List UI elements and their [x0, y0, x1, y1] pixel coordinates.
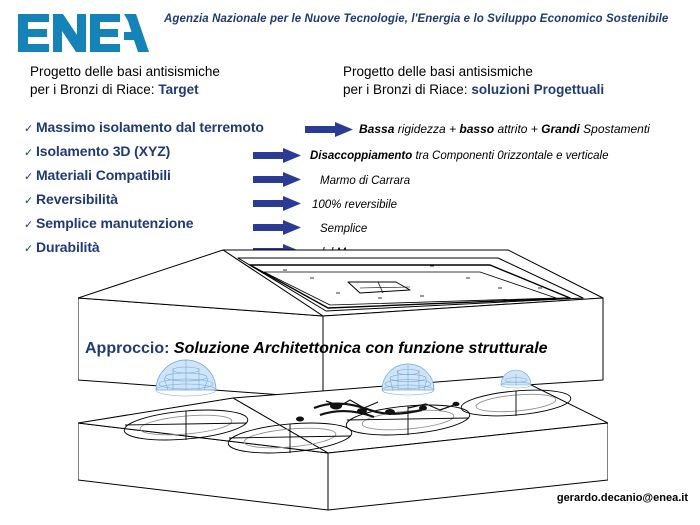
checkmark-icon: ✓ — [24, 244, 36, 255]
solution-1-bold2: basso — [459, 122, 494, 136]
arrow-right-icon-5 — [253, 220, 301, 235]
solution-1-plain3: Spostamenti — [580, 122, 650, 136]
project-heading-right-accent: soluzioni Progettuali — [471, 82, 604, 97]
project-heading-right-line1: Progetto delle basi antisismiche — [343, 63, 604, 81]
solution-1-bold3: Grandi — [541, 122, 580, 136]
approccio-caption: Approccio: Soluzione Architettonica con … — [85, 340, 548, 358]
solution-text-3: Marmo di Carrara — [320, 175, 410, 187]
solution-1-plain2: attrito + — [494, 122, 541, 136]
project-heading-left: Progetto delle basi antisismiche per i B… — [30, 63, 220, 99]
approccio-lead: Approccio: — [85, 340, 169, 357]
solution-3-plain1: Marmo di Carrara — [320, 175, 410, 187]
project-heading-right-line2: per i Bronzi di Riace: soluzioni Progett… — [343, 81, 604, 99]
requirement-label: Reversibilità — [36, 191, 118, 207]
project-heading-left-line2: per i Bronzi di Riace: Target — [30, 81, 220, 99]
solution-2-plain1: tra Componenti 0rizzontale e verticale — [412, 150, 608, 162]
arrow-right-icon-3 — [253, 172, 301, 187]
approccio-rest: Soluzione Architettonica con funzione st… — [169, 340, 547, 357]
solution-text-5: Semplice — [320, 223, 367, 235]
requirement-label: Semplice manutenzione — [36, 215, 193, 231]
solution-1-bold1: Bassa — [359, 122, 394, 136]
requirement-label: Materiali Compatibili — [36, 167, 171, 183]
slide-canvas: Agenzia Nazionale per le Nuove Tecnologi… — [0, 0, 700, 525]
requirement-label: Massimo isolamento dal terremoto — [36, 119, 264, 135]
checkmark-icon: ✓ — [24, 148, 36, 159]
requirement-item: ✓ Massimo isolamento dal terremoto — [24, 119, 294, 143]
solution-5-plain1: Semplice — [320, 223, 367, 235]
solution-2-bold1: Disaccoppiamento — [310, 150, 412, 162]
project-heading-left-accent: Target — [158, 82, 198, 97]
requirement-label: Isolamento 3D (XYZ) — [36, 143, 170, 159]
solution-text-2: Disaccoppiamento tra Componenti 0rizzont… — [310, 150, 609, 162]
project-heading-right-prefix: per i Bronzi di Riace: — [343, 82, 468, 97]
checkmark-icon: ✓ — [24, 124, 36, 135]
requirements-list: ✓ Massimo isolamento dal terremoto ✓ Iso… — [24, 119, 294, 263]
checkmark-icon: ✓ — [24, 172, 36, 183]
isolation-base-3d-diagram — [78, 248, 608, 516]
arrow-right-icon-4 — [253, 196, 301, 211]
arrow-right-icon-2 — [253, 148, 301, 163]
checkmark-icon: ✓ — [24, 196, 36, 207]
solution-text-4: 100% reversibile — [312, 199, 397, 211]
solution-4-plain1: 100% reversibile — [312, 199, 397, 211]
agency-subtitle: Agenzia Nazionale per le Nuove Tecnologi… — [164, 12, 694, 28]
solution-1-plain1: rigidezza + — [394, 122, 459, 136]
project-heading-left-line1: Progetto delle basi antisismiche — [30, 63, 220, 81]
project-heading-right: Progetto delle basi antisismiche per i B… — [343, 63, 604, 99]
project-heading-left-prefix: per i Bronzi di Riace: — [30, 82, 155, 97]
arrow-right-icon-1 — [305, 122, 353, 137]
checkmark-icon: ✓ — [24, 220, 36, 231]
enea-logo — [16, 10, 151, 56]
solution-text-1: Bassa rigidezza + basso attrito + Grandi… — [359, 122, 650, 136]
